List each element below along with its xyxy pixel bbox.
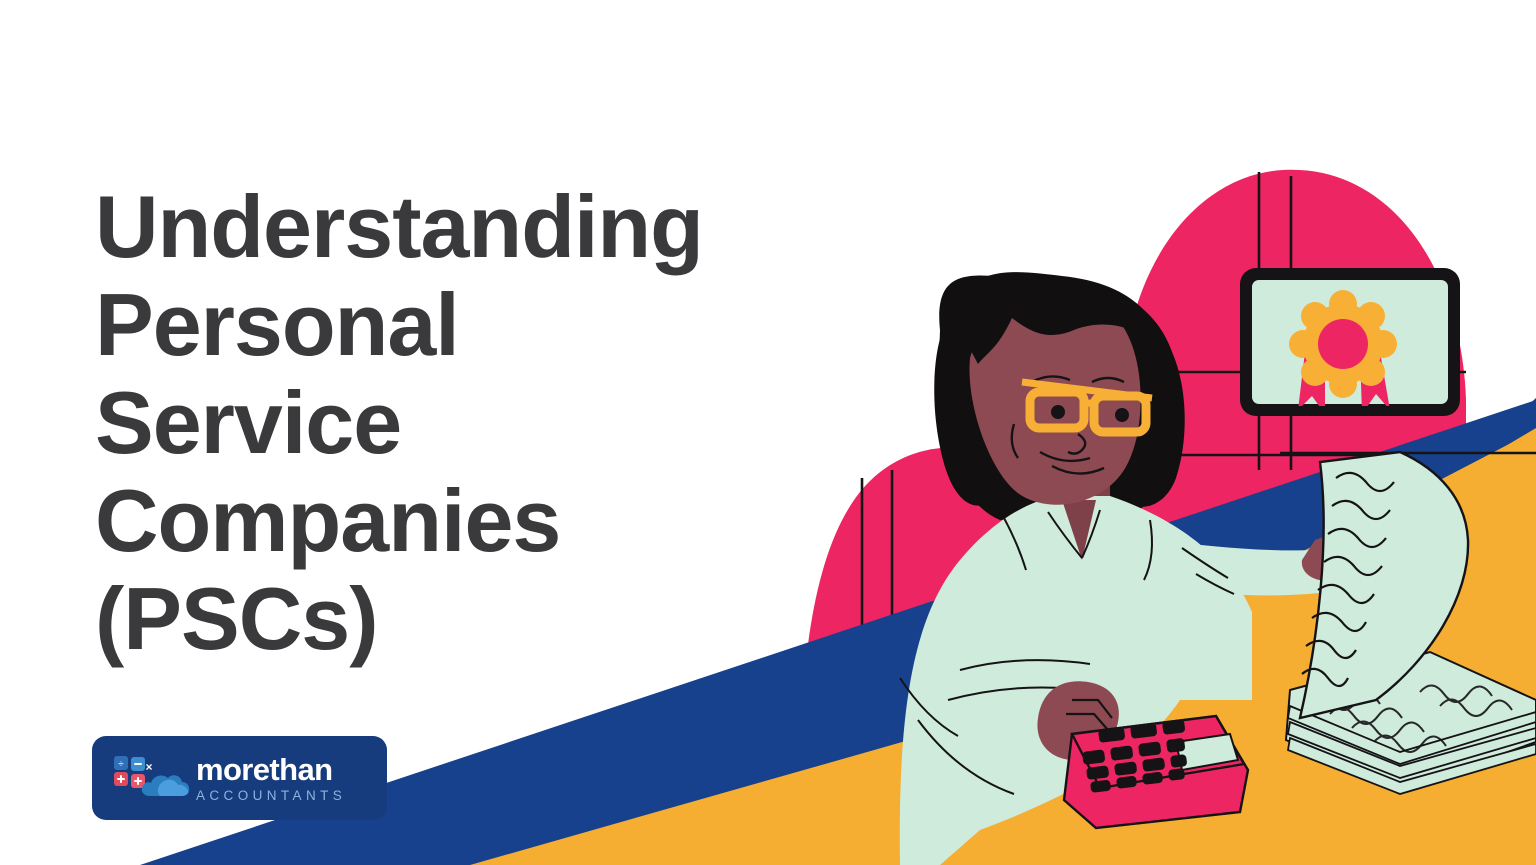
logo-secondary-text: ACCOUNTANTS [196,789,346,803]
glasses-bridge [1084,403,1096,406]
eye-right [1115,408,1129,422]
headline-block: Understanding Personal Service Companies… [95,178,915,668]
eye-left [1051,405,1065,419]
cloud-icon [142,775,189,796]
award-rosette-badge [1289,290,1397,414]
svg-text:÷: ÷ [118,759,124,770]
brand-logo-badge[interactable]: ÷ × morethan ACCOUNTANTS [92,736,387,820]
logo-primary-text: morethan [196,754,346,785]
pink-calculator [1064,716,1248,828]
page-title: Understanding Personal Service Companies… [95,178,915,668]
times-key-icon: × [145,760,152,774]
rosette-medal [1289,290,1397,398]
tablet-screen [1240,268,1460,416]
rosette-center [1318,319,1368,369]
logo-wordmark: morethan ACCOUNTANTS [196,754,346,803]
article-header-banner: Understanding Personal Service Companies… [0,0,1536,865]
calculator-cloud-icon: ÷ × [112,752,190,804]
